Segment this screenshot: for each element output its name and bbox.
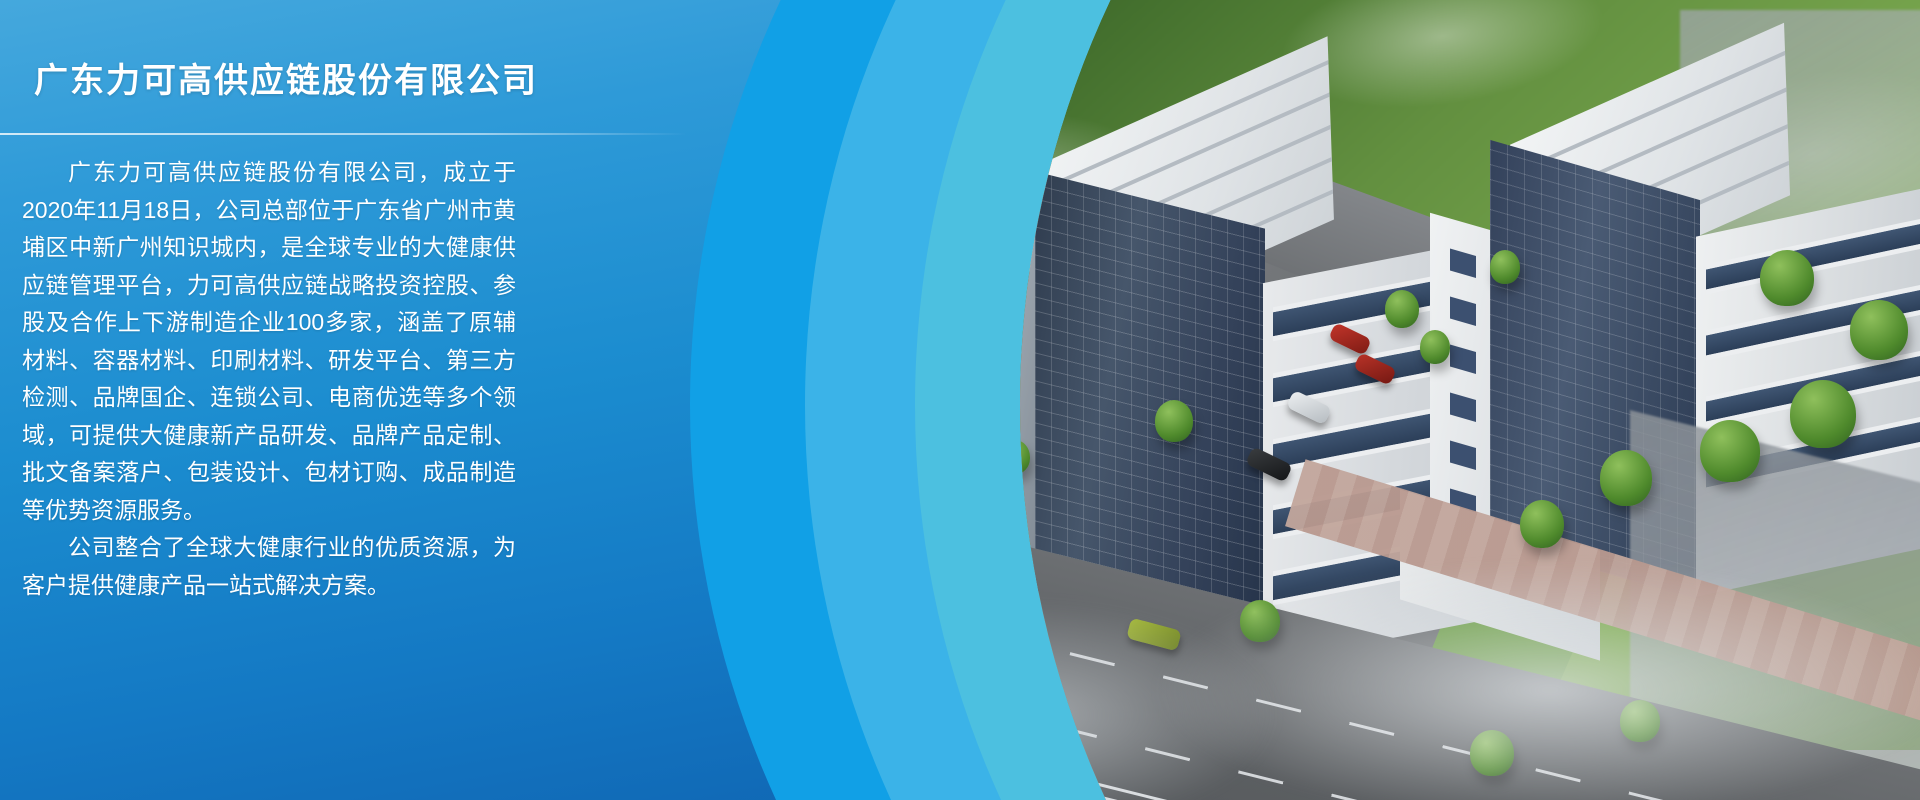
photo-tree <box>1850 300 1908 360</box>
photo-tree <box>1385 290 1419 328</box>
intro-text-panel: 广东力可高供应链股份有限公司 广东力可高供应链股份有限公司，成立于2020年11… <box>0 0 720 800</box>
photo-tree <box>1600 450 1652 506</box>
company-profile-banner: 广东力可高供应链股份有限公司 广东力可高供应链股份有限公司，成立于2020年11… <box>0 0 1920 800</box>
photo-haze-left <box>1020 600 1280 800</box>
photo-tree <box>1490 250 1520 284</box>
headquarters-aerial-rendering <box>1020 0 1920 800</box>
title-divider <box>0 133 686 135</box>
photo-tree <box>1420 330 1450 364</box>
intro-paragraph-1: 广东力可高供应链股份有限公司，成立于2020年11月18日，公司总部位于广东省广… <box>22 154 516 529</box>
intro-paragraph-2: 公司整合了全球大健康行业的优质资源，为客户提供健康产品一站式解决方案。 <box>22 529 516 604</box>
hero-photo-clip <box>1020 0 1920 800</box>
photo-tree <box>1520 500 1564 548</box>
intro-body: 广东力可高供应链股份有限公司，成立于2020年11月18日，公司总部位于广东省广… <box>22 154 516 604</box>
page-title: 广东力可高供应链股份有限公司 <box>34 53 538 102</box>
photo-tree <box>1790 380 1856 448</box>
photo-tree <box>1700 420 1760 482</box>
photo-tree <box>1155 400 1193 442</box>
photo-tree <box>1760 250 1814 306</box>
